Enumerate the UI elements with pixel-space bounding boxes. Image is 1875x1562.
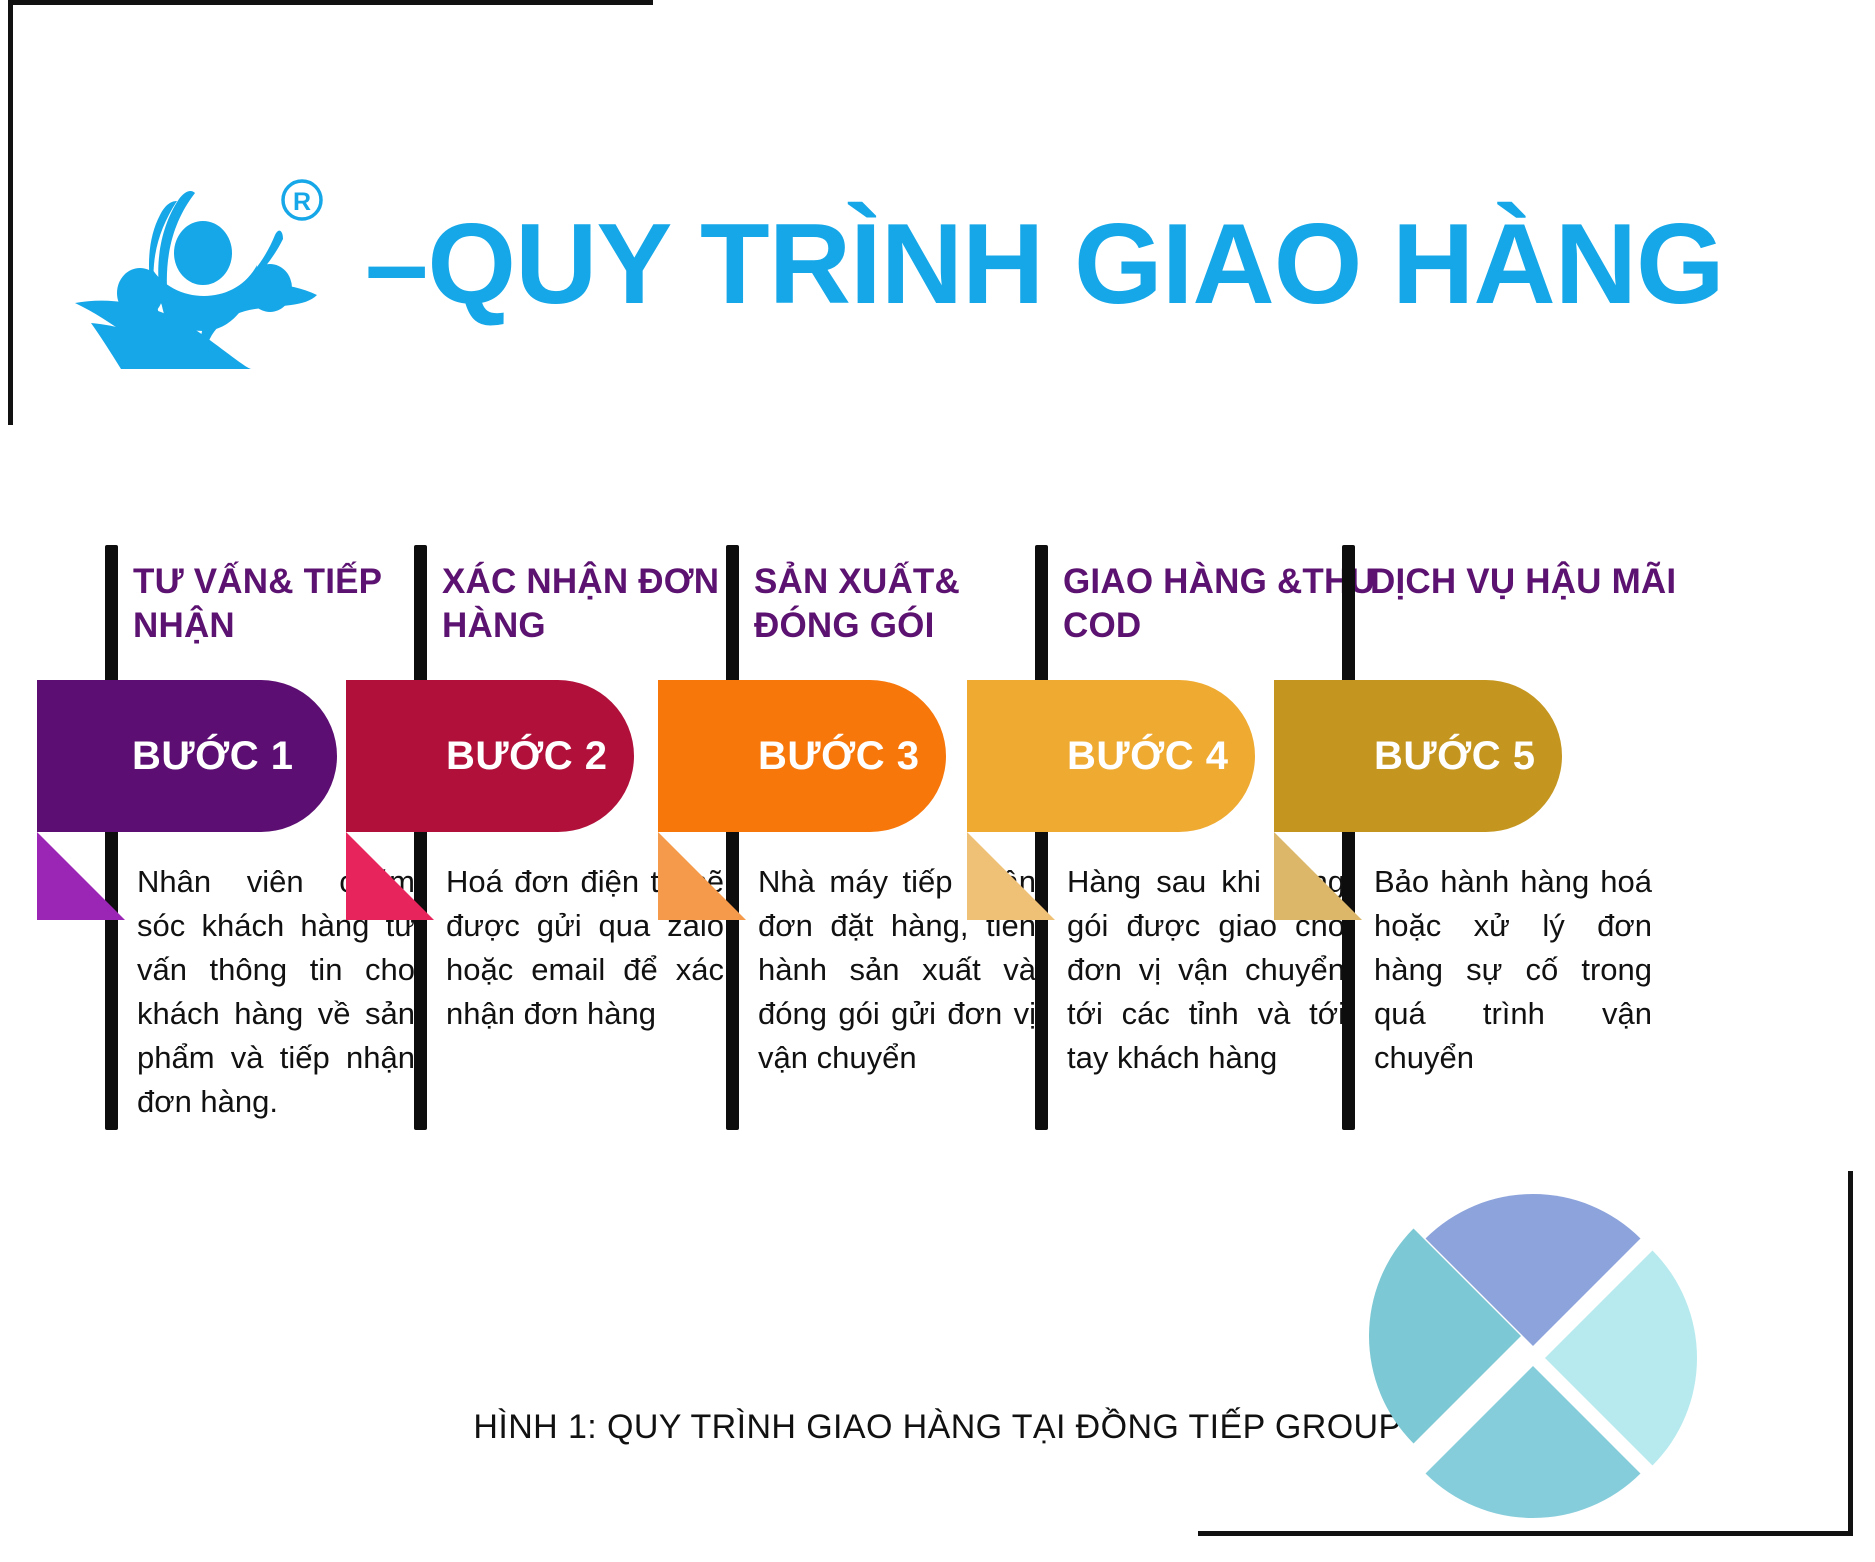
page-title: –QUY TRÌNH GIAO HÀNG xyxy=(365,208,1724,322)
step-5: DỊCH VỤ HẬU MÃI BƯỚC 5 Bảo hành hàng hoá… xyxy=(1342,540,1698,1160)
step-2-badge-label: BƯỚC 2 xyxy=(446,734,607,779)
pinwheel-decoration xyxy=(1203,1108,1843,1528)
step-4-ribbon-tail xyxy=(967,832,1055,920)
step-4-badge[interactable]: BƯỚC 4 xyxy=(967,680,1255,832)
process-steps: TƯ VẤN& TIẾP NHẬN BƯỚC 1 Nhân viên chăm … xyxy=(0,540,1875,1160)
step-2-badge[interactable]: BƯỚC 2 xyxy=(346,680,634,832)
step-1-badge-label: BƯỚC 1 xyxy=(132,734,293,779)
corner-frame-bottom-right xyxy=(1198,1171,1853,1536)
step-4-badge-label: BƯỚC 4 xyxy=(1067,734,1228,779)
step-5-heading: DỊCH VỤ HẬU MÃI xyxy=(1370,560,1690,604)
svg-text:R: R xyxy=(293,188,311,216)
step-5-description: Bảo hành hàng hoá hoặc xử lý đơn hàng sự… xyxy=(1374,860,1652,1080)
step-5-badge[interactable]: BƯỚC 5 xyxy=(1274,680,1562,832)
step-2-ribbon-tail xyxy=(346,832,434,920)
step-1-badge[interactable]: BƯỚC 1 xyxy=(37,680,337,832)
step-3-badge-label: BƯỚC 3 xyxy=(758,734,919,779)
dong-tiep-group-people-logo: R xyxy=(55,155,355,375)
figure-caption: HÌNH 1: QUY TRÌNH GIAO HÀNG TẠI ĐỒNG TIẾ… xyxy=(0,1408,1875,1447)
step-4-heading: GIAO HÀNG &THU COD xyxy=(1063,560,1383,648)
step-2-heading: XÁC NHẬN ĐƠN HÀNG xyxy=(442,560,762,648)
step-3-heading: SẢN XUẤT& ĐÓNG GÓI xyxy=(754,560,1074,648)
step-5-badge-label: BƯỚC 5 xyxy=(1374,734,1535,779)
header: R –QUY TRÌNH GIAO HÀNG xyxy=(0,150,1860,380)
step-1-ribbon-tail xyxy=(37,832,125,920)
step-3-ribbon-tail xyxy=(658,832,746,920)
step-3-badge[interactable]: BƯỚC 3 xyxy=(658,680,946,832)
step-1-heading: TƯ VẤN& TIẾP NHẬN xyxy=(133,560,453,648)
step-5-ribbon-tail xyxy=(1274,832,1362,920)
